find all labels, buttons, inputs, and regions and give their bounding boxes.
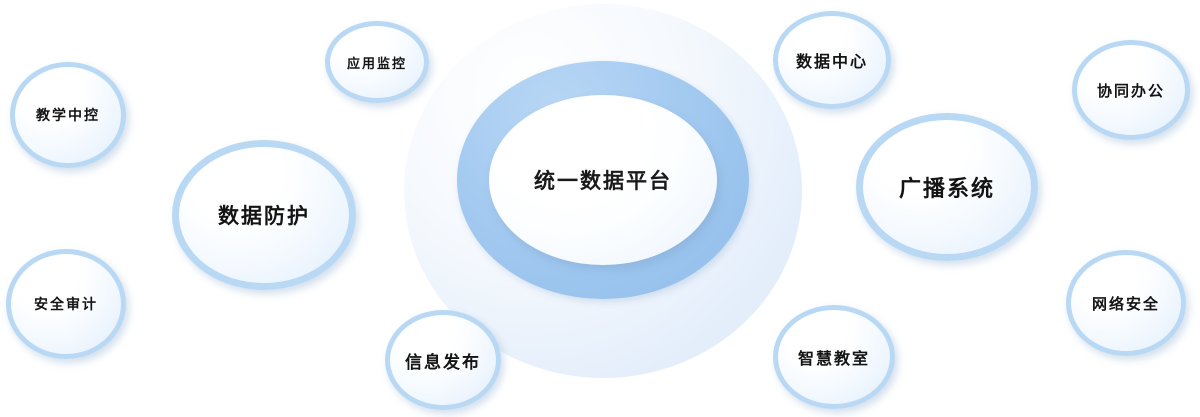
- node-label-data-protection: 数据防护: [218, 200, 310, 230]
- node-network-security[interactable]: 网络安全: [1066, 250, 1186, 356]
- diagram-canvas: 统一数据平台 教学中控安全审计应用监控数据防护信息发布数据中心广播系统智慧教室协…: [0, 0, 1200, 417]
- node-label-smart-classroom: 智慧教室: [798, 345, 870, 369]
- node-security-audit[interactable]: 安全审计: [6, 249, 126, 359]
- node-label-security-audit: 安全审计: [34, 294, 98, 314]
- node-collaborative-office[interactable]: 协同办公: [1072, 40, 1190, 140]
- node-label-information-publishing: 信息发布: [405, 348, 481, 373]
- node-application-monitoring[interactable]: 应用监控: [325, 21, 429, 103]
- center-ring-outer[interactable]: 统一数据平台: [457, 61, 749, 299]
- node-label-application-monitoring: 应用监控: [347, 53, 407, 72]
- node-information-publishing[interactable]: 信息发布: [385, 310, 501, 410]
- center-ring-inner[interactable]: 统一数据平台: [489, 95, 717, 265]
- node-teaching-central-control[interactable]: 教学中控: [10, 62, 126, 168]
- node-data-protection[interactable]: 数据防护: [172, 140, 356, 290]
- node-smart-classroom[interactable]: 智慧教室: [773, 305, 895, 409]
- node-data-center[interactable]: 数据中心: [773, 11, 891, 109]
- node-label-teaching-central-control: 教学中控: [36, 105, 100, 125]
- node-label-network-security: 网络安全: [1092, 293, 1160, 314]
- node-label-broadcast-system: 广播系统: [899, 171, 995, 203]
- node-label-collaborative-office: 协同办公: [1097, 80, 1165, 101]
- node-broadcast-system[interactable]: 广播系统: [856, 113, 1038, 261]
- node-label-data-center: 数据中心: [796, 48, 868, 72]
- center-node-label: 统一数据平台: [489, 165, 717, 195]
